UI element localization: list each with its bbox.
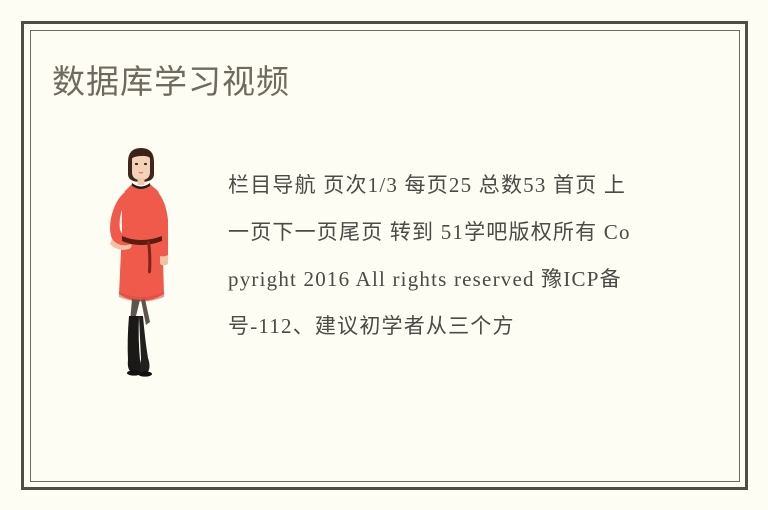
body-copy: 栏目导航 页次1/3 每页25 总数53 首页 上一页下一页尾页 转到 51学吧…: [228, 162, 632, 350]
model-photo: [98, 144, 184, 378]
poster-canvas: 数据库学习视频: [0, 0, 768, 510]
page-title: 数据库学习视频: [52, 62, 290, 102]
